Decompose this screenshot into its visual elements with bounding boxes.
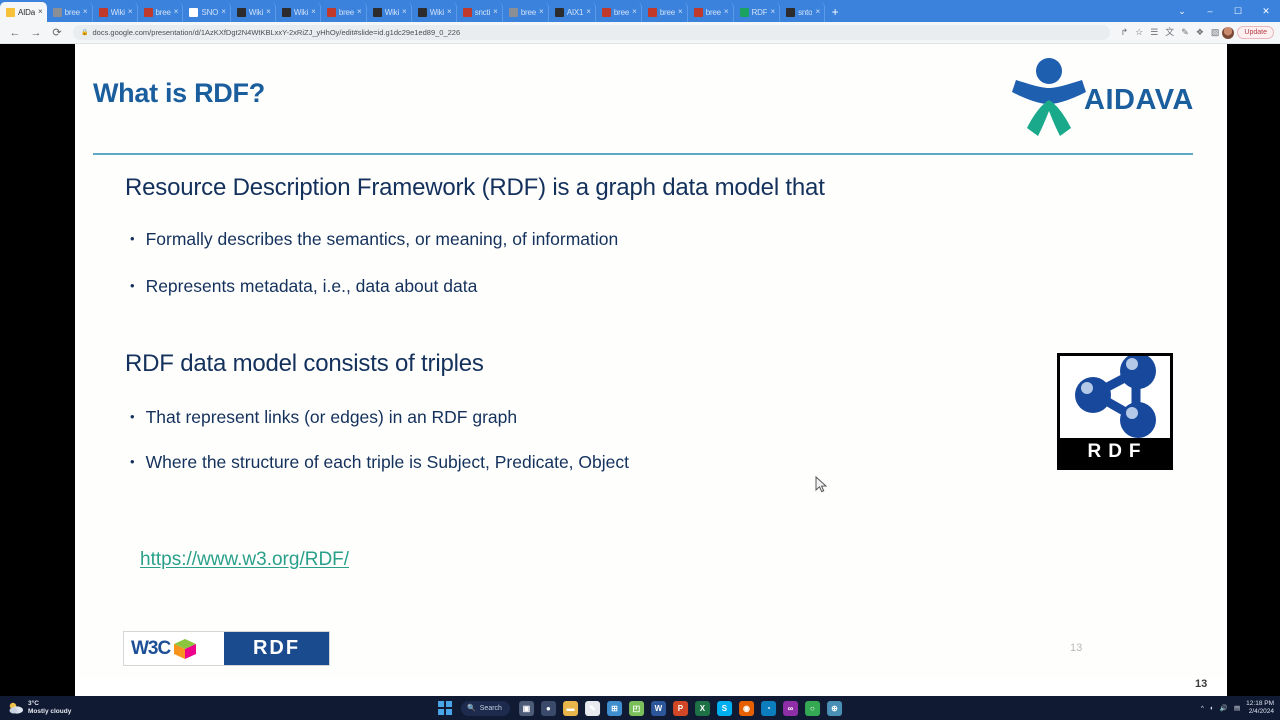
system-tray: ^ ◐ 🔊 ▤ 12:18 PM 2/4/2024 (1201, 700, 1280, 717)
browser-tab[interactable]: AIDa× (0, 2, 47, 22)
bullet-dot-icon: • (130, 410, 135, 423)
browser-tab[interactable]: AIX1× (549, 2, 596, 22)
tab-label: bree (614, 8, 629, 17)
bullet-text: That represent links (or edges) in an RD… (146, 407, 518, 428)
cloud-icon (8, 701, 24, 715)
tab-close-icon[interactable]: × (38, 8, 43, 16)
store-icon[interactable]: ⊞ (607, 701, 622, 716)
tab-favicon-icon (418, 8, 427, 17)
back-button[interactable]: ← (6, 27, 24, 39)
task-view-icon[interactable]: ▣ (519, 701, 534, 716)
tab-close-icon[interactable]: × (770, 8, 775, 16)
taskbar-clock[interactable]: 12:18 PM 2/4/2024 (1246, 700, 1274, 717)
tab-label: bree (65, 8, 80, 17)
tab-favicon-icon (555, 8, 564, 17)
tab-label: AIDa (18, 8, 35, 17)
excel-icon[interactable]: X (695, 701, 710, 716)
slide-heading-2: RDF data model consists of triples (125, 350, 484, 378)
tab-label: bree (706, 8, 721, 17)
taskbar-center-group: 🔍 Search ▣●▬✎⊞◰WPXS◉◔∞○⊕ (438, 701, 842, 716)
browser-tab[interactable]: Wiki× (276, 2, 321, 22)
firefox-icon[interactable]: ◉ (739, 701, 754, 716)
browser-tab[interactable]: bree× (503, 2, 549, 22)
tab-favicon-icon (6, 8, 15, 17)
widgets-icon[interactable]: ● (541, 701, 556, 716)
tab-favicon-icon (237, 8, 246, 17)
mouse-cursor-icon (815, 476, 827, 493)
browser-tab[interactable]: Wiki× (93, 2, 138, 22)
toolbar-icon-group: ↱☆☰文✎❖▧ (1117, 28, 1220, 37)
tab-close-icon[interactable]: × (724, 8, 729, 16)
tab-label: Wiki (385, 8, 399, 17)
tab-favicon-icon (282, 8, 291, 17)
browser-tab-strip: AIDa×bree×Wiki×bree×SNO×Wiki×Wiki×bree×W… (0, 0, 1280, 22)
tab-close-icon[interactable]: × (83, 8, 88, 16)
photos-icon[interactable]: ◰ (629, 701, 644, 716)
browser-tab[interactable]: RDF× (734, 2, 781, 22)
tab-close-icon[interactable]: × (174, 8, 179, 16)
tab-close-icon[interactable]: × (402, 8, 407, 16)
clock-time: 12:18 PM (1246, 700, 1274, 708)
start-button[interactable] (438, 701, 452, 715)
browser-tab[interactable]: snto× (780, 2, 825, 22)
tab-close-icon[interactable]: × (266, 8, 271, 16)
slide-canvas[interactable]: What is RDF? AIDAVA Resource Description… (75, 44, 1227, 678)
weather-desc: Mostly cloudy (28, 708, 71, 716)
browser-tab[interactable]: bree× (138, 2, 184, 22)
weather-text: 3°C Mostly cloudy (28, 700, 71, 716)
address-bar-url: docs.google.com/presentation/d/1AzKXfDgt… (92, 28, 460, 37)
network-icon[interactable]: ◐ (1210, 705, 1214, 712)
taskbar-search[interactable]: 🔍 Search (461, 701, 510, 716)
aidava-logo: AIDAVA (1010, 56, 1195, 142)
tab-close-icon[interactable]: × (447, 8, 452, 16)
tab-favicon-icon (189, 8, 198, 17)
file-explorer-icon[interactable]: ▬ (563, 701, 578, 716)
browser-tab[interactable]: Wiki× (412, 2, 457, 22)
extensions-puzzle-icon[interactable]: ❖ (1196, 28, 1204, 37)
tab-favicon-icon (648, 8, 657, 17)
profile-avatar[interactable] (1222, 27, 1234, 39)
close-window-button[interactable]: ✕ (1252, 0, 1280, 22)
bullet-dot-icon: • (130, 232, 135, 245)
update-button[interactable]: Update (1237, 26, 1274, 39)
tab-label: AIX1 (567, 8, 584, 17)
globe-app-icon[interactable]: ⊕ (827, 701, 842, 716)
share-icon[interactable]: ↱ (1121, 28, 1129, 37)
word-icon[interactable]: W (651, 701, 666, 716)
lock-icon: 🔒 (81, 29, 88, 36)
browser-tab[interactable]: bree× (321, 2, 367, 22)
tab-search-icon[interactable]: ⌄ (1168, 0, 1196, 22)
bullet-dot-icon: • (130, 455, 135, 468)
tab-close-icon[interactable]: × (357, 8, 362, 16)
tab-close-icon[interactable]: × (539, 8, 544, 16)
purple-app-icon[interactable]: ∞ (783, 701, 798, 716)
new-tab-button[interactable]: + (825, 2, 845, 22)
browser-tab[interactable]: bree× (642, 2, 688, 22)
tab-close-icon[interactable]: × (221, 8, 226, 16)
tab-label: sncti (475, 8, 490, 17)
bullet-item: • Represents metadata, i.e., data about … (130, 276, 477, 297)
browser-tab[interactable]: Wiki× (367, 2, 412, 22)
search-icon: 🔍 (467, 704, 476, 712)
tab-close-icon[interactable]: × (493, 8, 498, 16)
tab-label: snto (798, 8, 812, 17)
window-controls: ⌄ – ☐ ✕ (1168, 0, 1280, 22)
volume-icon[interactable]: 🔊 (1220, 704, 1228, 712)
w3c-logo-text: W3C (131, 638, 170, 660)
rdf-graph-panel (1060, 356, 1170, 438)
tab-label: Wiki (430, 8, 444, 17)
weather-widget[interactable]: 3°C Mostly cloudy (0, 700, 71, 716)
reading-list-icon[interactable]: ☰ (1150, 28, 1158, 37)
w3-rdf-link[interactable]: https://www.w3.org/RDF/ (140, 549, 349, 571)
w3c-cube-icon (172, 637, 198, 661)
tab-close-icon[interactable]: × (586, 8, 591, 16)
tab-favicon-icon (786, 8, 795, 17)
tab-favicon-icon (53, 8, 62, 17)
title-divider (93, 153, 1193, 155)
notepad-icon[interactable]: ✎ (585, 701, 600, 716)
tab-label: bree (660, 8, 675, 17)
tab-favicon-icon (144, 8, 153, 17)
tab-close-icon[interactable]: × (128, 8, 133, 16)
tab-favicon-icon (509, 8, 518, 17)
powerpoint-icon[interactable]: P (673, 701, 688, 716)
browser-tab[interactable]: SNO× (183, 2, 230, 22)
tab-favicon-icon (602, 8, 611, 17)
page-number: 13 (1195, 678, 1207, 690)
skype-icon[interactable]: S (717, 701, 732, 716)
maximize-button[interactable]: ☐ (1224, 0, 1252, 22)
tab-favicon-icon (373, 8, 382, 17)
pen-icon[interactable]: ✎ (1181, 28, 1189, 37)
side-panel-icon[interactable]: ▧ (1211, 28, 1220, 37)
w3c-badge-rdf-text: RDF (224, 632, 329, 665)
browser-tab[interactable]: sncti× (457, 2, 503, 22)
slide-title: What is RDF? (93, 78, 265, 109)
tab-favicon-icon (740, 8, 749, 17)
tray-chevron-icon[interactable]: ^ (1201, 705, 1204, 712)
chrome-icon[interactable]: ○ (805, 701, 820, 716)
minimize-button[interactable]: – (1196, 0, 1224, 22)
browser-tab[interactable]: bree× (688, 2, 734, 22)
bullet-text: Where the structure of each triple is Su… (146, 452, 629, 473)
edge-icon[interactable]: ◔ (761, 701, 776, 716)
aidava-figure-icon (1010, 56, 1088, 142)
bullet-item: • Where the structure of each triple is … (130, 452, 629, 473)
slide-heading-1: Resource Description Framework (RDF) is … (125, 174, 825, 202)
rdf-logo-mark: RDF (1057, 353, 1173, 470)
bullet-text: Represents metadata, i.e., data about da… (146, 276, 478, 297)
bullet-item: • That represent links (or edges) in an … (130, 407, 517, 428)
w3c-rdf-badge: W3C RDF (123, 631, 330, 666)
browser-tab[interactable]: bree× (596, 2, 642, 22)
tab-label: RDF (752, 8, 768, 17)
clock-date: 2/4/2024 (1246, 708, 1274, 716)
page-viewport: What is RDF? AIDAVA Resource Description… (0, 44, 1280, 696)
browser-tab[interactable]: Wiki× (231, 2, 276, 22)
tab-close-icon[interactable]: × (632, 8, 637, 16)
browser-tab[interactable]: bree× (47, 2, 93, 22)
tab-label: bree (339, 8, 354, 17)
w3c-badge-left: W3C (124, 632, 224, 665)
battery-icon[interactable]: ▤ (1234, 704, 1240, 712)
slide-number: 13 (1070, 642, 1082, 654)
search-label: Search (480, 705, 502, 712)
tab-favicon-icon (694, 8, 703, 17)
screen: AIDa×bree×Wiki×bree×SNO×Wiki×Wiki×bree×W… (0, 0, 1280, 720)
tab-label: Wiki (294, 8, 308, 17)
tab-close-icon[interactable]: × (815, 8, 820, 16)
aidava-logo-text: AIDAVA (1084, 84, 1194, 117)
address-bar[interactable]: 🔒 docs.google.com/presentation/d/1AzKXfD… (73, 25, 1110, 40)
tab-label: Wiki (111, 8, 125, 17)
presentation-sheet: What is RDF? AIDAVA Resource Description… (75, 44, 1227, 696)
rdf-logo-letters: RDF (1060, 438, 1170, 464)
tab-label: Wiki (249, 8, 263, 17)
tab-close-icon[interactable]: × (311, 8, 316, 16)
tab-label: SNO (201, 8, 218, 17)
bullet-dot-icon: • (130, 279, 135, 292)
weather-temp: 3°C (28, 700, 71, 708)
windows-taskbar: 3°C Mostly cloudy 🔍 Search ▣●▬✎⊞◰WPXS◉◔∞… (0, 696, 1280, 720)
tab-label: bree (521, 8, 536, 17)
bullet-text: Formally describes the semantics, or mea… (146, 229, 619, 250)
tab-label: bree (156, 8, 171, 17)
browser-toolbar: ← → ⟳ 🔒 docs.google.com/presentation/d/1… (0, 22, 1280, 44)
tab-close-icon[interactable]: × (678, 8, 683, 16)
bookmark-star-icon[interactable]: ☆ (1135, 28, 1143, 37)
tab-favicon-icon (99, 8, 108, 17)
translate-icon[interactable]: 文 (1165, 28, 1174, 37)
tab-list: AIDa×bree×Wiki×bree×SNO×Wiki×Wiki×bree×W… (0, 2, 825, 22)
tab-favicon-icon (327, 8, 336, 17)
taskbar-app-list: ▣●▬✎⊞◰WPXS◉◔∞○⊕ (519, 701, 842, 716)
rdf-graph-icon (1060, 356, 1170, 438)
bullet-item: • Formally describes the semantics, or m… (130, 229, 618, 250)
reload-button[interactable]: ⟳ (48, 26, 66, 39)
tab-favicon-icon (463, 8, 472, 17)
forward-button[interactable]: → (27, 27, 45, 39)
